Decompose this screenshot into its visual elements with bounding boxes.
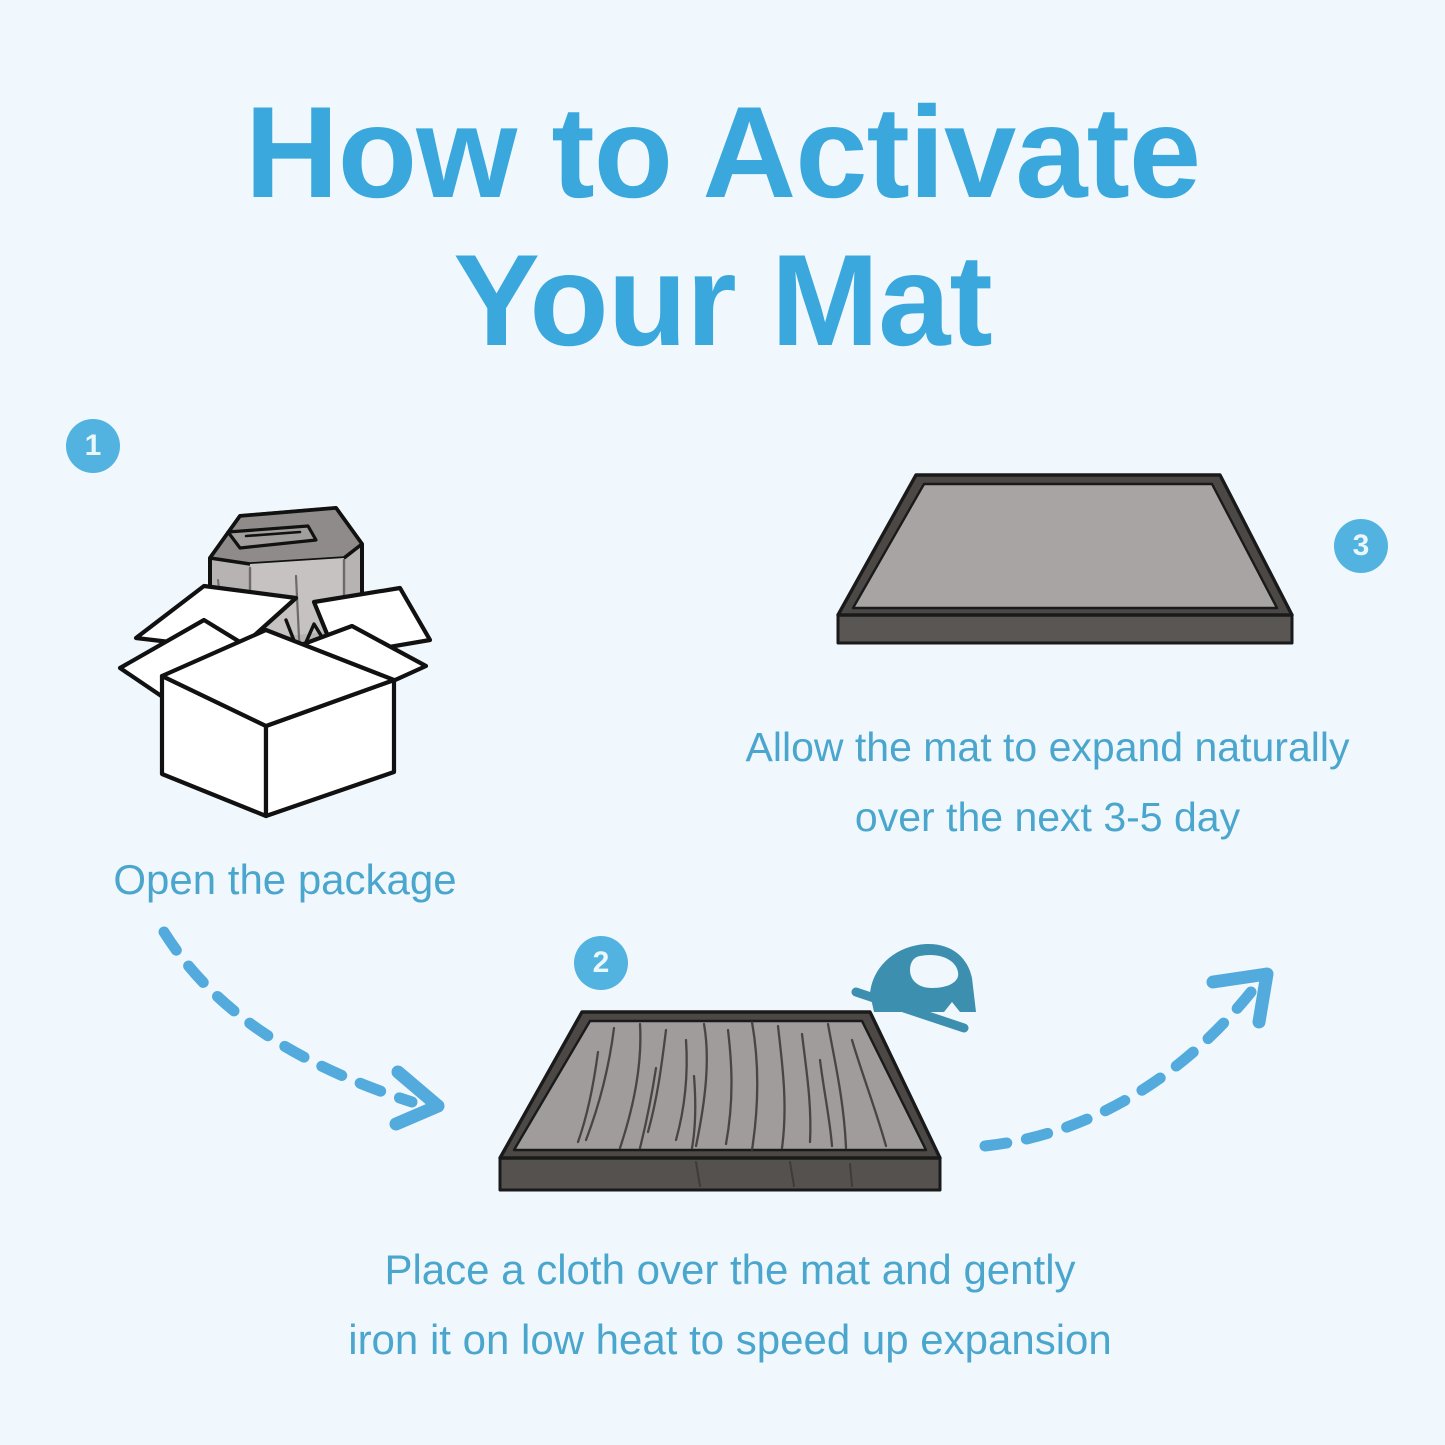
step-1-caption: Open the package [20,845,550,915]
page-title-line-1: How to Activate [0,78,1445,226]
page-title-line-2: Your Mat [0,226,1445,374]
dashed-arrow-step2-to-step3 [975,950,1305,1170]
page-title: How to Activate Your Mat [0,78,1445,374]
mat-top-surface [853,484,1277,608]
step-2-caption: Place a cloth over the mat and gently ir… [230,1235,1230,1375]
iron-icon [848,928,988,1043]
mat-thickness-edge [838,615,1292,643]
infographic-canvas: How to Activate Your Mat 1 [0,0,1445,1445]
step-badge-1: 1 [66,419,120,473]
step-badge-2: 2 [574,936,628,990]
expanded-mat-illustration [830,465,1300,675]
mat-thickness-edge-2 [500,1158,940,1190]
open-box-illustration [100,480,440,820]
dashed-arrow-step1-to-step2 [150,910,490,1150]
step-badge-3: 3 [1334,519,1388,573]
step-3-caption: Allow the mat to expand naturally over t… [660,712,1435,852]
